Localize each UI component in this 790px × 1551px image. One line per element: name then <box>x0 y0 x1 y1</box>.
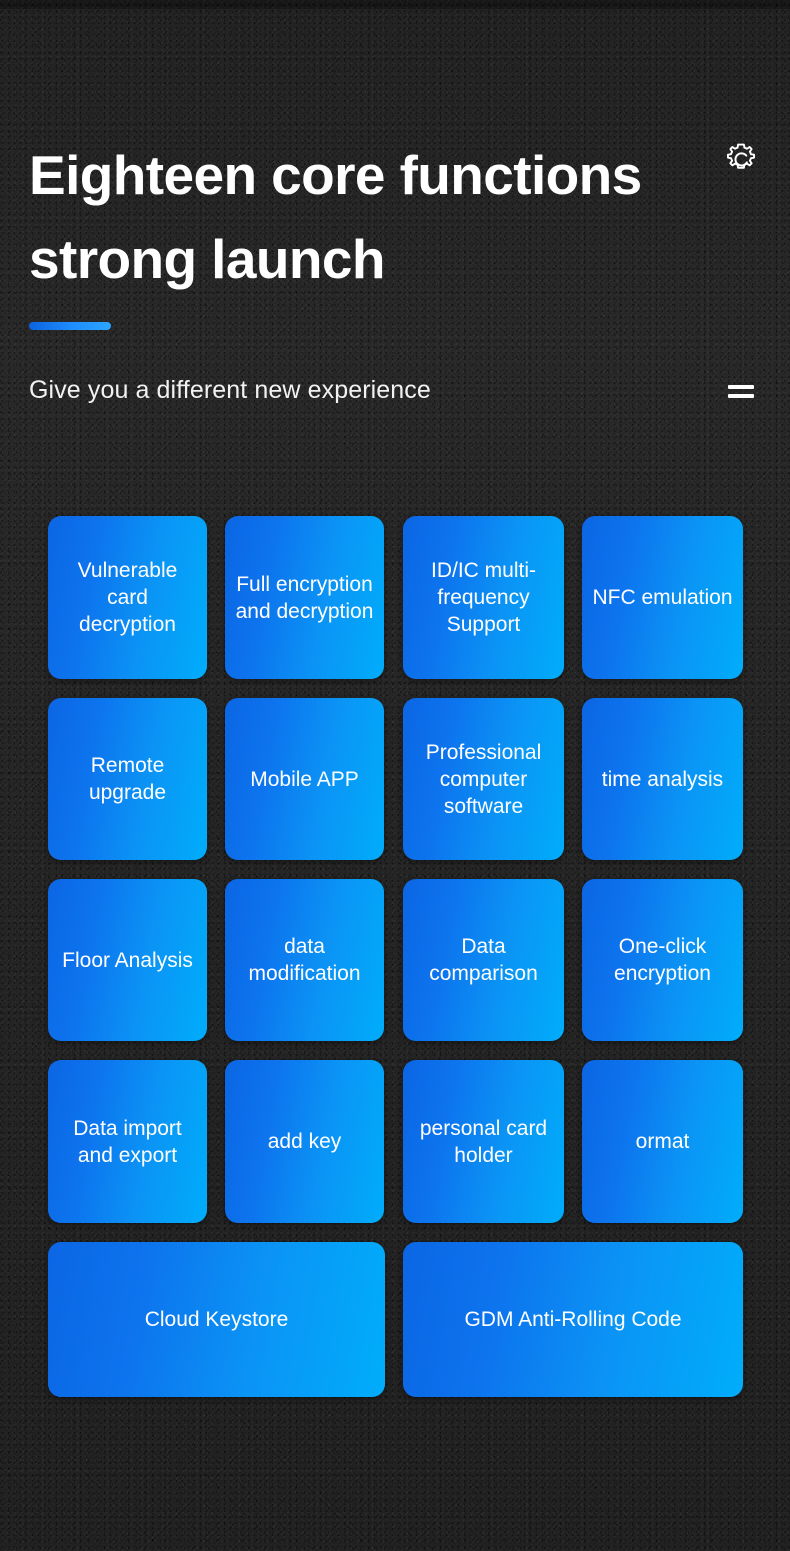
tile-label: Mobile APP <box>250 766 359 793</box>
tile-label: time analysis <box>602 766 723 793</box>
tile-label: ID/IC multi-frequency Support <box>413 557 554 638</box>
tile-label: Cloud Keystore <box>145 1306 289 1333</box>
feature-tile-professional-computer-software[interactable]: Professional computer software <box>403 698 564 860</box>
top-edge-band <box>0 0 790 9</box>
feature-tile-floor-analysis[interactable]: Floor Analysis <box>48 879 207 1041</box>
page-title: Eighteen core functions strong launch <box>29 133 689 301</box>
tile-label: add key <box>268 1128 342 1155</box>
tile-label: data modification <box>235 933 374 987</box>
feature-tile-add-key[interactable]: add key <box>225 1060 384 1223</box>
feature-tile-vulnerable-card-decryption[interactable]: Vulnerable card decryption <box>48 516 207 679</box>
tile-row: Cloud Keystore GDM Anti-Rolling Code <box>48 1242 743 1397</box>
menu-icon-bar-top <box>728 385 754 389</box>
tile-label: Floor Analysis <box>62 947 193 974</box>
feature-tile-data-modification[interactable]: data modification <box>225 879 384 1041</box>
feature-tile-time-analysis[interactable]: time analysis <box>582 698 743 860</box>
feature-tile-full-encryption-and-decryption[interactable]: Full encryption and decryption <box>225 516 384 679</box>
feature-tile-data-comparison[interactable]: Data comparison <box>403 879 564 1041</box>
tile-row: Data import and export add key personal … <box>48 1060 743 1223</box>
feature-tile-one-click-encryption[interactable]: One-click encryption <box>582 879 743 1041</box>
tile-label: Full encryption and decryption <box>235 571 374 625</box>
tile-label: Remote upgrade <box>58 752 197 806</box>
tile-label: Data import and export <box>58 1115 197 1169</box>
feature-tile-gdm-anti-rolling-code[interactable]: GDM Anti-Rolling Code <box>403 1242 743 1397</box>
page-subtitle: Give you a different new experience <box>29 374 431 407</box>
tile-label: Vulnerable card decryption <box>58 557 197 638</box>
feature-tile-mobile-app[interactable]: Mobile APP <box>225 698 384 860</box>
tile-label: Professional computer software <box>413 739 554 820</box>
feature-tile-remote-upgrade[interactable]: Remote upgrade <box>48 698 207 860</box>
feature-tile-data-import-and-export[interactable]: Data import and export <box>48 1060 207 1223</box>
feature-tile-id-ic-multi-frequency-support[interactable]: ID/IC multi-frequency Support <box>403 516 564 679</box>
menu-icon-bar-bottom <box>728 394 754 398</box>
tile-label: One-click encryption <box>592 933 733 987</box>
tile-label: NFC emulation <box>592 584 732 611</box>
feature-tile-nfc-emulation[interactable]: NFC emulation <box>582 516 743 679</box>
tile-label: Data comparison <box>413 933 554 987</box>
tile-row: Remote upgrade Mobile APP Professional c… <box>48 698 743 860</box>
tile-label: personal card holder <box>413 1115 554 1169</box>
feature-tile-ormat[interactable]: ormat <box>582 1060 743 1223</box>
settings-button[interactable] <box>719 140 763 184</box>
feature-tiles-grid: Vulnerable card decryption Full encrypti… <box>48 516 743 1397</box>
feature-tile-cloud-keystore[interactable]: Cloud Keystore <box>48 1242 385 1397</box>
gear-icon <box>721 140 761 185</box>
accent-bar <box>29 322 111 330</box>
feature-tile-personal-card-holder[interactable]: personal card holder <box>403 1060 564 1223</box>
tile-label: ormat <box>636 1128 690 1155</box>
tile-row: Floor Analysis data modification Data co… <box>48 879 743 1041</box>
tile-row: Vulnerable card decryption Full encrypti… <box>48 516 743 679</box>
tile-label: GDM Anti-Rolling Code <box>464 1306 681 1333</box>
menu-button[interactable] <box>728 378 758 404</box>
page-root: Eighteen core functions strong launch Gi… <box>0 0 790 1551</box>
